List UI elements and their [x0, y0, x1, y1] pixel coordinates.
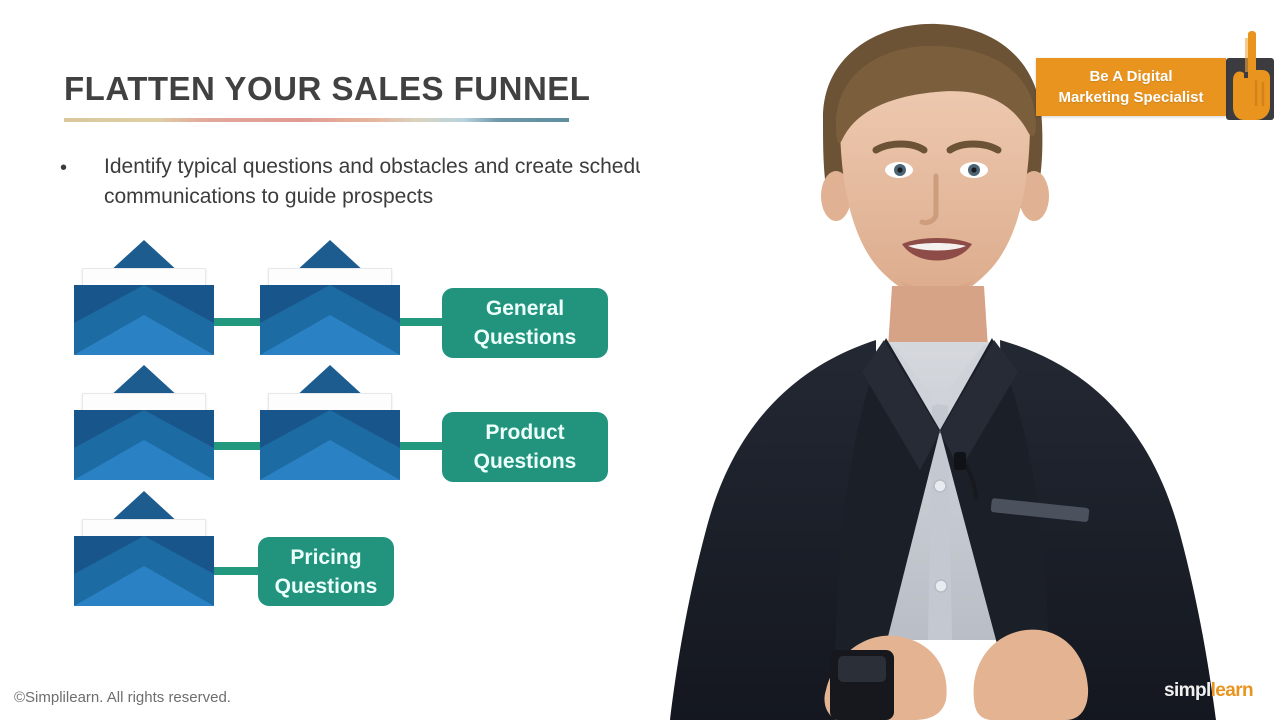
outcome-box-general-questions[interactable]: General Questions	[442, 288, 608, 358]
logo-text: simpllearn	[1164, 680, 1253, 702]
cta-line-1: Be A Digital	[1089, 66, 1172, 87]
envelope-welcome-2[interactable]: Welcome #2	[260, 240, 400, 355]
simplilearn-logo: simpllearn	[1164, 678, 1270, 708]
envelope-body-icon	[74, 536, 214, 606]
logo-part-2: learn	[1211, 680, 1253, 701]
cta-line-2: Marketing Specialist	[1058, 87, 1203, 108]
envelope-body-icon	[260, 410, 400, 480]
envelope-whitepaper[interactable]: Whitepaper	[74, 365, 214, 480]
outcome-line-2: Questions	[474, 447, 577, 476]
outcome-line-2: Questions	[474, 323, 577, 352]
envelope-welcome-1[interactable]: Welcome #1	[74, 240, 214, 355]
envelope-body-icon	[74, 285, 214, 355]
cta-banner[interactable]: Be A Digital Marketing Specialist	[1036, 58, 1226, 116]
outcome-box-product-questions[interactable]: Product Questions	[442, 412, 608, 482]
cta-badge[interactable]: Be A Digital Marketing Specialist	[1036, 30, 1280, 130]
outcome-box-pricing-questions[interactable]: Pricing Questions	[258, 537, 394, 606]
logo-part-1: simpl	[1164, 680, 1211, 701]
envelope-body-icon	[260, 285, 400, 355]
connector-row2-a	[208, 442, 266, 450]
envelope-body-icon	[74, 410, 214, 480]
outcome-line-2: Questions	[275, 572, 378, 601]
copyright-text: ©Simplilearn. All rights reserved.	[14, 689, 231, 706]
slide-canvas: FLATTEN YOUR SALES FUNNEL • Identify typ…	[0, 0, 1280, 720]
outcome-line-1: General	[486, 294, 564, 323]
connector-row1-a	[208, 318, 266, 326]
outcome-line-1: Pricing	[290, 543, 361, 572]
pointing-hand-icon	[1224, 28, 1280, 124]
email-flow-diagram: Welcome #1 Welcome #2 General Questions …	[0, 0, 660, 720]
outcome-line-1: Product	[485, 418, 564, 447]
envelope-product-video[interactable]: Product Video	[260, 365, 400, 480]
envelope-features-price[interactable]: Features/Price	[74, 491, 214, 606]
